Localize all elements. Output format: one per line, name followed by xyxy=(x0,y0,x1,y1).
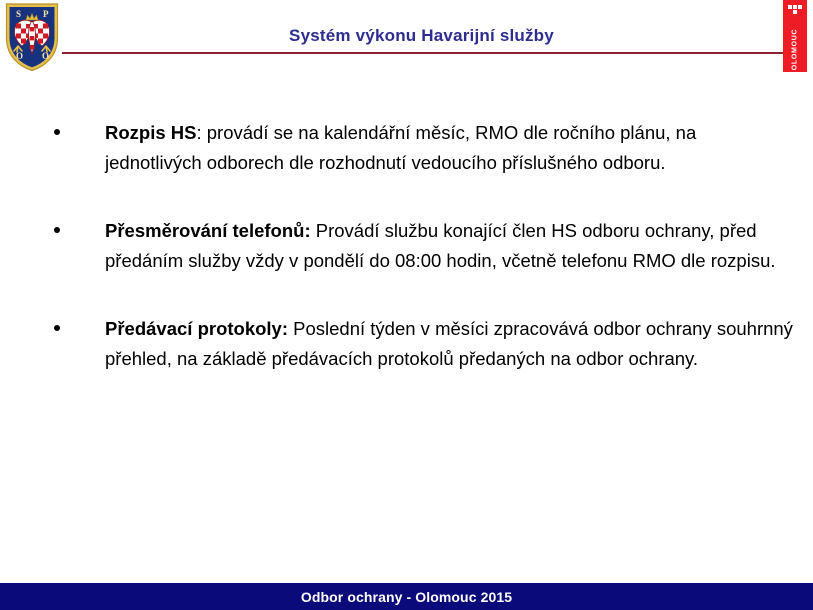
bullet-dot-icon xyxy=(54,325,60,331)
bullet-lead: Přesměrování telefonů: xyxy=(105,220,311,241)
bullet-lead: Předávací protokoly: xyxy=(105,318,288,339)
slide-header: S P O O xyxy=(0,0,813,82)
slide-body: Rozpis HS: provádí se na kalendářní měsí… xyxy=(0,118,813,578)
list-item: Předávací protokoly: Poslední týden v mě… xyxy=(0,314,813,374)
page-title: Systém výkonu Havarijní služby xyxy=(60,26,783,46)
svg-text:S: S xyxy=(16,9,21,19)
olomouc-coat-of-arms-icon: S P O O xyxy=(5,2,59,72)
bullet-dot-icon xyxy=(54,129,60,135)
header-divider xyxy=(62,52,783,54)
bullet-lead: Rozpis HS xyxy=(105,122,196,143)
list-item: Přesměrování telefonů: Provádí službu ko… xyxy=(0,216,813,276)
footer-label: Odbor ochrany - Olomouc 2015 xyxy=(301,589,512,605)
olomouc-brand-badge: OLOMOUC xyxy=(783,0,807,72)
svg-text:P: P xyxy=(43,9,49,19)
bullet-text: Předávací protokoly: Poslední týden v mě… xyxy=(105,314,793,374)
brand-badge-label: OLOMOUC xyxy=(792,29,799,70)
svg-text:O: O xyxy=(42,51,49,61)
slide: S P O O xyxy=(0,0,813,610)
list-item: Rozpis HS: provádí se na kalendářní měsí… xyxy=(0,118,813,178)
bullet-text: Přesměrování telefonů: Provádí službu ko… xyxy=(105,216,793,276)
bullet-text: Rozpis HS: provádí se na kalendářní měsí… xyxy=(105,118,793,178)
slide-footer: Odbor ochrany - Olomouc 2015 xyxy=(0,583,813,610)
checker-mark-icon xyxy=(788,5,802,16)
bullet-dot-icon xyxy=(54,227,60,233)
